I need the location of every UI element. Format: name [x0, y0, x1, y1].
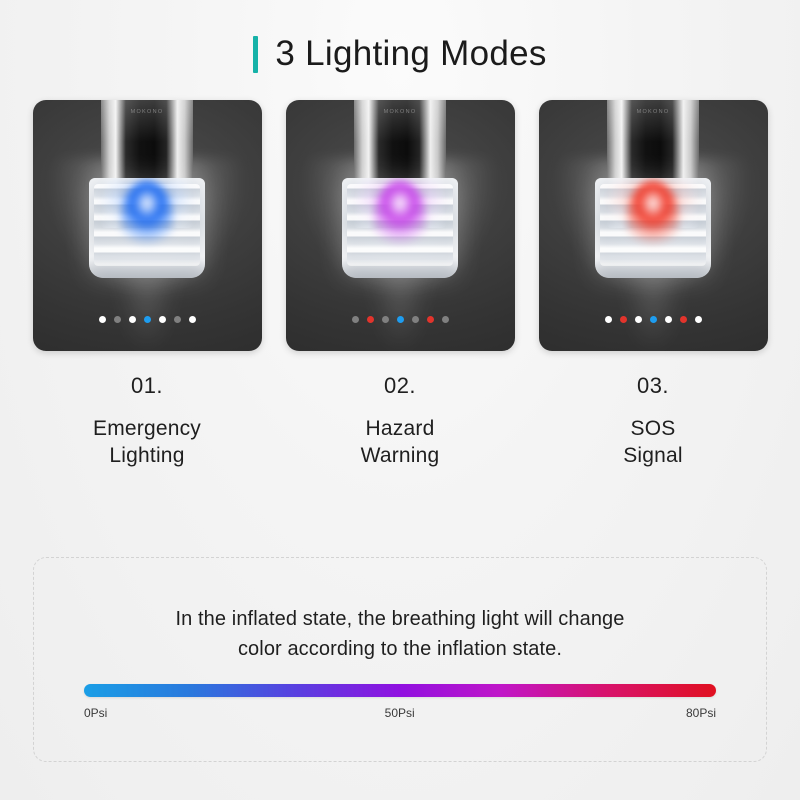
title-text: 3 Lighting Modes: [275, 34, 546, 74]
mode-indicator-dots-2: [286, 316, 515, 323]
indicator-dot: [129, 316, 136, 323]
product-infographic: 3 Lighting Modes MOKONO: [0, 0, 800, 800]
device-highlight: [101, 100, 193, 142]
indicator-dot: [635, 316, 642, 323]
pressure-gradient-bar: [84, 684, 716, 697]
indicator-dot: [174, 316, 181, 323]
page-title: 3 Lighting Modes: [0, 0, 800, 72]
mode-number-1: 01.: [33, 373, 262, 399]
lamp-head: [342, 178, 458, 278]
device-brand-label: MOKONO: [354, 109, 446, 115]
mode-name-2: Hazard Warning: [286, 415, 515, 470]
lighting-modes-row: MOKONO 01. Emer: [0, 100, 800, 470]
device-brand-label: MOKONO: [101, 109, 193, 115]
indicator-dot-active: [397, 316, 404, 323]
pressure-label-max: 80Psi: [686, 706, 716, 720]
indicator-dot: [367, 316, 374, 323]
mode-card-3: MOKONO 03. SOS: [539, 100, 768, 470]
indicator-dot-active: [650, 316, 657, 323]
pressure-label-mid: 50Psi: [385, 706, 415, 720]
mode-image-2: MOKONO: [286, 100, 515, 351]
lamp-head: [89, 178, 205, 278]
device-highlight: [607, 100, 699, 142]
inflation-caption-line1: In the inflated state, the breathing lig…: [78, 605, 722, 635]
indicator-dot: [114, 316, 121, 323]
indicator-dot: [159, 316, 166, 323]
mode-image-1: MOKONO: [33, 100, 262, 351]
mode-name-3: SOS Signal: [539, 415, 768, 470]
lamp-head: [595, 178, 711, 278]
inflation-info-panel: In the inflated state, the breathing lig…: [33, 557, 767, 762]
inflation-caption-line2: color according to the inflation state.: [78, 635, 722, 665]
indicator-dot: [412, 316, 419, 323]
lamp-glow-core: [121, 180, 173, 258]
mode-card-1: MOKONO 01. Emer: [33, 100, 262, 470]
indicator-dot: [605, 316, 612, 323]
indicator-dot: [189, 316, 196, 323]
mode-indicator-dots-1: [33, 316, 262, 323]
mode-image-3: MOKONO: [539, 100, 768, 351]
indicator-dot: [442, 316, 449, 323]
lamp-glow-core: [627, 180, 679, 258]
lamp-rim: [595, 260, 711, 278]
indicator-dot: [620, 316, 627, 323]
indicator-dot: [352, 316, 359, 323]
indicator-dot-active: [144, 316, 151, 323]
indicator-dot: [382, 316, 389, 323]
indicator-dot: [680, 316, 687, 323]
pressure-scale-labels: 0Psi 50Psi 80Psi: [84, 706, 716, 720]
mode-name-1: Emergency Lighting: [33, 415, 262, 470]
pressure-label-min: 0Psi: [84, 706, 107, 720]
inflation-caption: In the inflated state, the breathing lig…: [34, 558, 766, 664]
mode-indicator-dots-3: [539, 316, 768, 323]
mode-number-2: 02.: [286, 373, 515, 399]
lamp-rim: [342, 260, 458, 278]
pressure-scale: 0Psi 50Psi 80Psi: [84, 684, 716, 720]
indicator-dot: [99, 316, 106, 323]
title-accent-bar: [253, 36, 258, 73]
lamp-glow-core: [374, 180, 426, 258]
indicator-dot: [695, 316, 702, 323]
device-highlight: [354, 100, 446, 142]
lamp-rim: [89, 260, 205, 278]
mode-number-3: 03.: [539, 373, 768, 399]
indicator-dot: [427, 316, 434, 323]
mode-card-2: MOKONO 02. Haza: [286, 100, 515, 470]
device-brand-label: MOKONO: [607, 109, 699, 115]
indicator-dot: [665, 316, 672, 323]
